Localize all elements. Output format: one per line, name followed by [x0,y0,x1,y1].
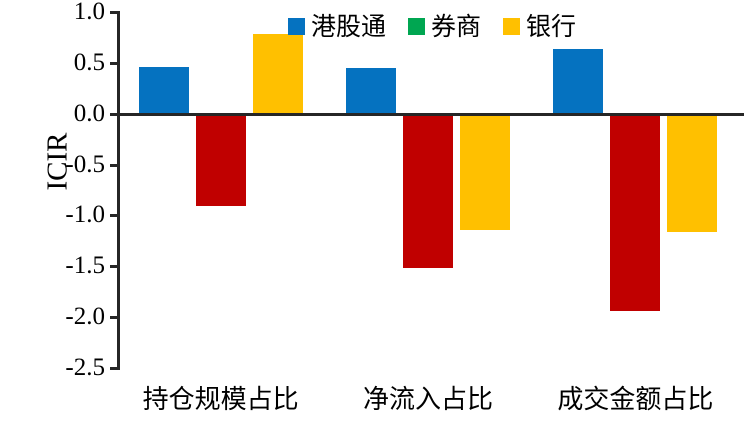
zero-baseline [117,113,744,116]
legend-label: 银行 [526,14,576,39]
bar [667,114,717,232]
bar [253,34,303,113]
bar [460,114,510,230]
legend-item[interactable]: 港股通 [288,14,386,39]
bar [196,114,246,207]
y-tick-label: -1.5 [27,253,105,278]
legend-label: 港股通 [311,14,386,39]
x-category-label: 净流入占比 [363,385,493,415]
legend-item[interactable]: 银行 [503,14,576,39]
chart-legend: 港股通券商银行 [288,14,598,39]
legend-label: 券商 [431,14,481,39]
bar [610,114,660,311]
bar [346,68,396,114]
y-tick-label: 1.0 [27,0,105,24]
legend-item[interactable]: 券商 [408,14,481,39]
legend-swatch-icon [408,18,425,35]
y-tick-label: -1.0 [27,202,105,227]
bar-chart: ICIR 1.00.50.0-0.5-1.0-1.5-2.0-2.5 港股通券商… [0,0,747,423]
y-tick-label: -2.0 [27,304,105,329]
y-axis-tick-labels: 1.00.50.0-0.5-1.0-1.5-2.0-2.5 [20,0,105,423]
x-axis-category-labels: 持仓规模占比净流入占比成交金额占比 [117,385,739,423]
bar [403,114,453,269]
legend-swatch-icon [503,18,520,35]
y-tick-label: -0.5 [27,152,105,177]
y-tick-label: 0.0 [27,101,105,126]
y-tick-label: 0.5 [27,50,105,75]
bar [553,49,603,114]
y-tick-label: -2.5 [27,355,105,380]
plot-area [117,12,739,368]
legend-swatch-icon [288,18,305,35]
x-category-label: 持仓规模占比 [143,385,299,415]
x-category-label: 成交金额占比 [557,385,713,415]
bar [139,67,189,114]
